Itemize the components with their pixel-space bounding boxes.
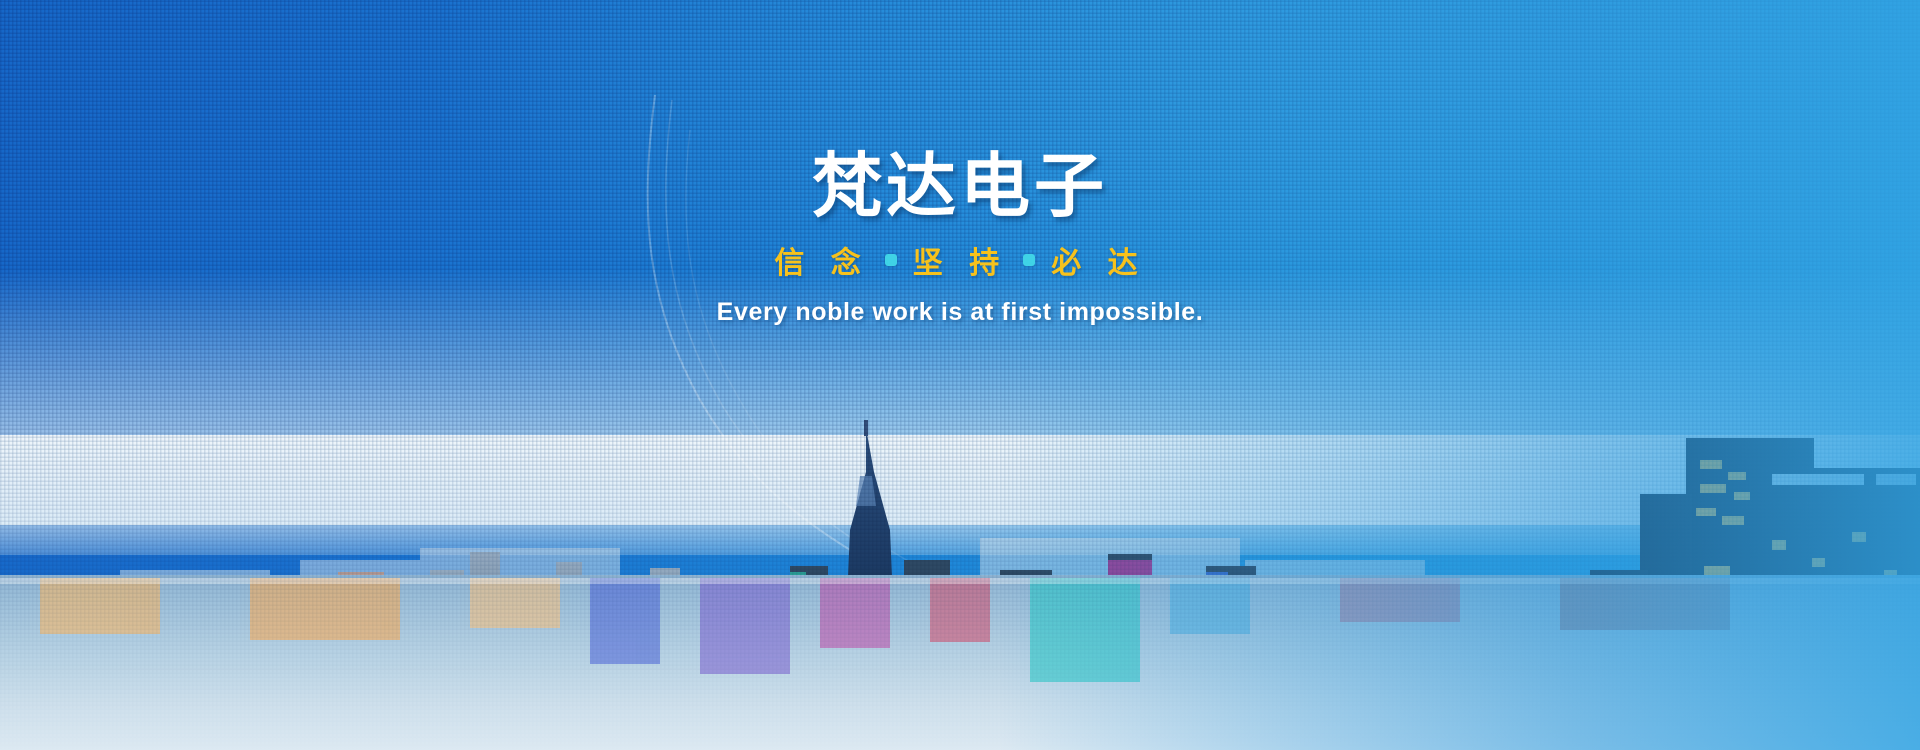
slogan-separator-dot-icon — [885, 254, 897, 266]
page-title: 梵达电子 — [0, 150, 1920, 224]
slogan-line: 信 念 坚 持 必 达 — [0, 238, 1920, 282]
slogan-word-2: 坚 持 — [911, 238, 1009, 282]
english-tagline: Every noble work is at first impossible. — [0, 298, 1920, 327]
banner-copy: 梵达电子 信 念 坚 持 必 达 Every noble work is at … — [0, 150, 1920, 327]
hero-banner: 梵达电子 信 念 坚 持 必 达 Every noble work is at … — [0, 0, 1920, 750]
slogan-word-3: 必 达 — [1049, 238, 1147, 282]
slogan-separator-dot-icon — [1023, 254, 1035, 266]
halftone-grid-overlay — [0, 0, 1920, 750]
slogan-word-1: 信 念 — [772, 238, 870, 282]
